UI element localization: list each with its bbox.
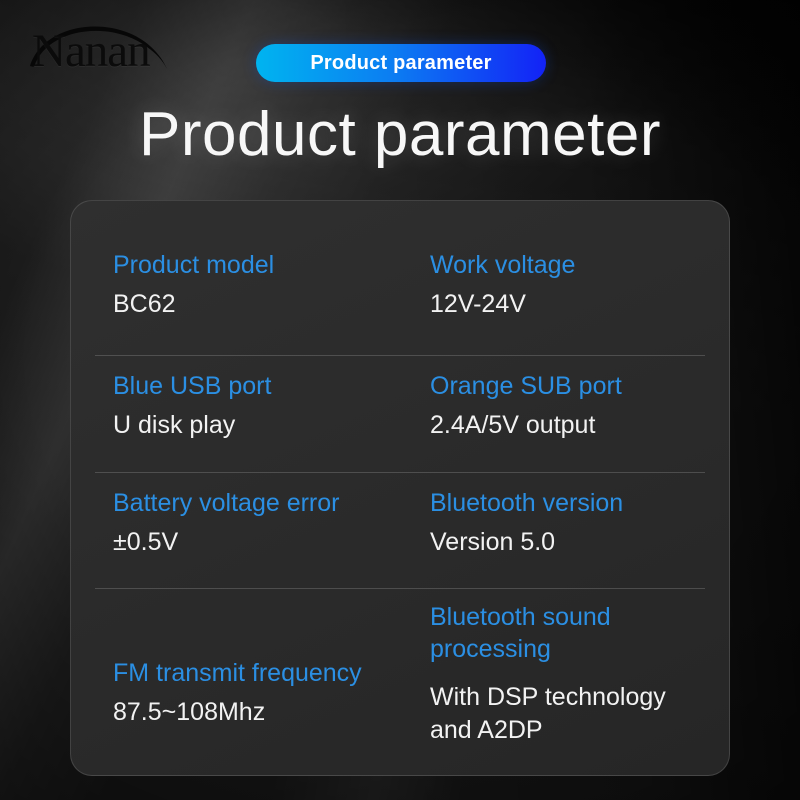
spec-label: Battery voltage error	[113, 487, 394, 519]
spec-cell-bluetooth-version: Bluetooth version Version 5.0	[400, 473, 705, 588]
spec-cell-bluetooth-sound-processing: Bluetooth sound processing With DSP tech…	[400, 589, 705, 757]
spec-value: Version 5.0	[430, 526, 699, 559]
spec-cell-orange-sub-port: Orange SUB port 2.4A/5V output	[400, 356, 705, 471]
spec-cell-blue-usb-port: Blue USB port U disk play	[95, 356, 400, 471]
spec-cell-fm-transmit-frequency: FM transmit frequency 87.5~108Mhz	[95, 589, 400, 757]
brand-logo: Nanan	[18, 12, 198, 84]
specification-card: Product model BC62 Work voltage 12V-24V …	[70, 200, 730, 776]
spec-label: Orange SUB port	[430, 370, 699, 402]
spec-label: Blue USB port	[113, 370, 394, 402]
spec-value: 12V-24V	[430, 288, 699, 321]
table-row: FM transmit frequency 87.5~108Mhz Blueto…	[95, 588, 705, 757]
badge-label: Product parameter	[310, 52, 491, 75]
spec-label: Bluetooth version	[430, 487, 699, 519]
spec-label: FM transmit frequency	[113, 657, 394, 689]
table-row: Product model BC62 Work voltage 12V-24V	[95, 235, 705, 355]
product-parameter-page: Nanan Product parameter Product paramete…	[0, 0, 800, 800]
product-parameter-badge[interactable]: Product parameter	[256, 44, 546, 82]
spec-value: BC62	[113, 288, 394, 321]
spec-value: With DSP technology and A2DP	[430, 681, 699, 747]
spec-cell-work-voltage: Work voltage 12V-24V	[400, 235, 705, 355]
spec-value: 87.5~108Mhz	[113, 696, 394, 729]
table-row: Battery voltage error ±0.5V Bluetooth ve…	[95, 472, 705, 588]
spec-label: Work voltage	[430, 249, 699, 281]
spec-label: Product model	[113, 249, 394, 281]
spec-label: Bluetooth sound processing	[430, 601, 699, 665]
spec-cell-product-model: Product model BC62	[95, 235, 400, 355]
spec-cell-battery-voltage-error: Battery voltage error ±0.5V	[95, 473, 400, 588]
spec-value: 2.4A/5V output	[430, 409, 699, 442]
page-title: Product parameter	[0, 96, 800, 174]
spec-value: U disk play	[113, 409, 394, 442]
spec-value: ±0.5V	[113, 526, 394, 559]
brand-name: Nanan	[32, 26, 150, 76]
table-row: Blue USB port U disk play Orange SUB por…	[95, 355, 705, 471]
